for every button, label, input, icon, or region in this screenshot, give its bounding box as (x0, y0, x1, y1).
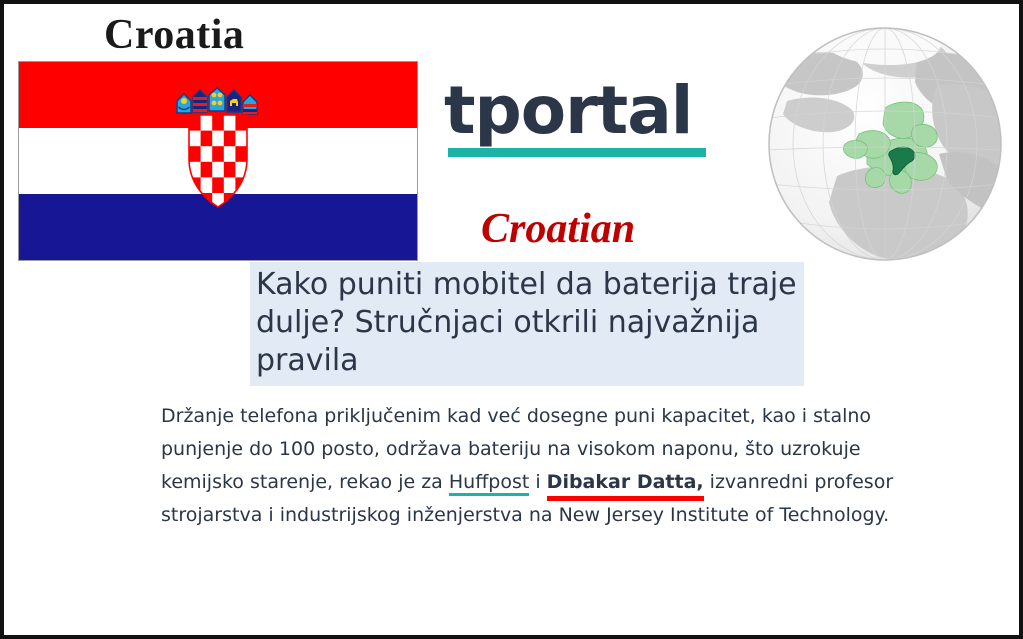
article-headline: Kako puniti mobitel da baterija traje du… (250, 262, 804, 386)
europe-orthographic-globe-icon (767, 26, 1003, 262)
croatian-coat-of-arms-icon (175, 79, 261, 211)
expert-name-highlight: Dibakar Datta, (547, 471, 704, 493)
tportal-logo: tportal (444, 76, 712, 157)
croatian-flag (18, 61, 418, 261)
tportal-underline-bar (448, 148, 706, 157)
article-body: Držanje telefona priključenim kad već do… (161, 400, 903, 532)
page-title: Croatia (104, 12, 244, 58)
tportal-wordmark: tportal (444, 76, 712, 146)
language-label: Croatian (481, 206, 635, 252)
slide-container: Croatia (0, 0, 1023, 639)
body-segment-2: i (529, 471, 546, 493)
huffpost-link[interactable]: Huffpost (449, 471, 529, 493)
